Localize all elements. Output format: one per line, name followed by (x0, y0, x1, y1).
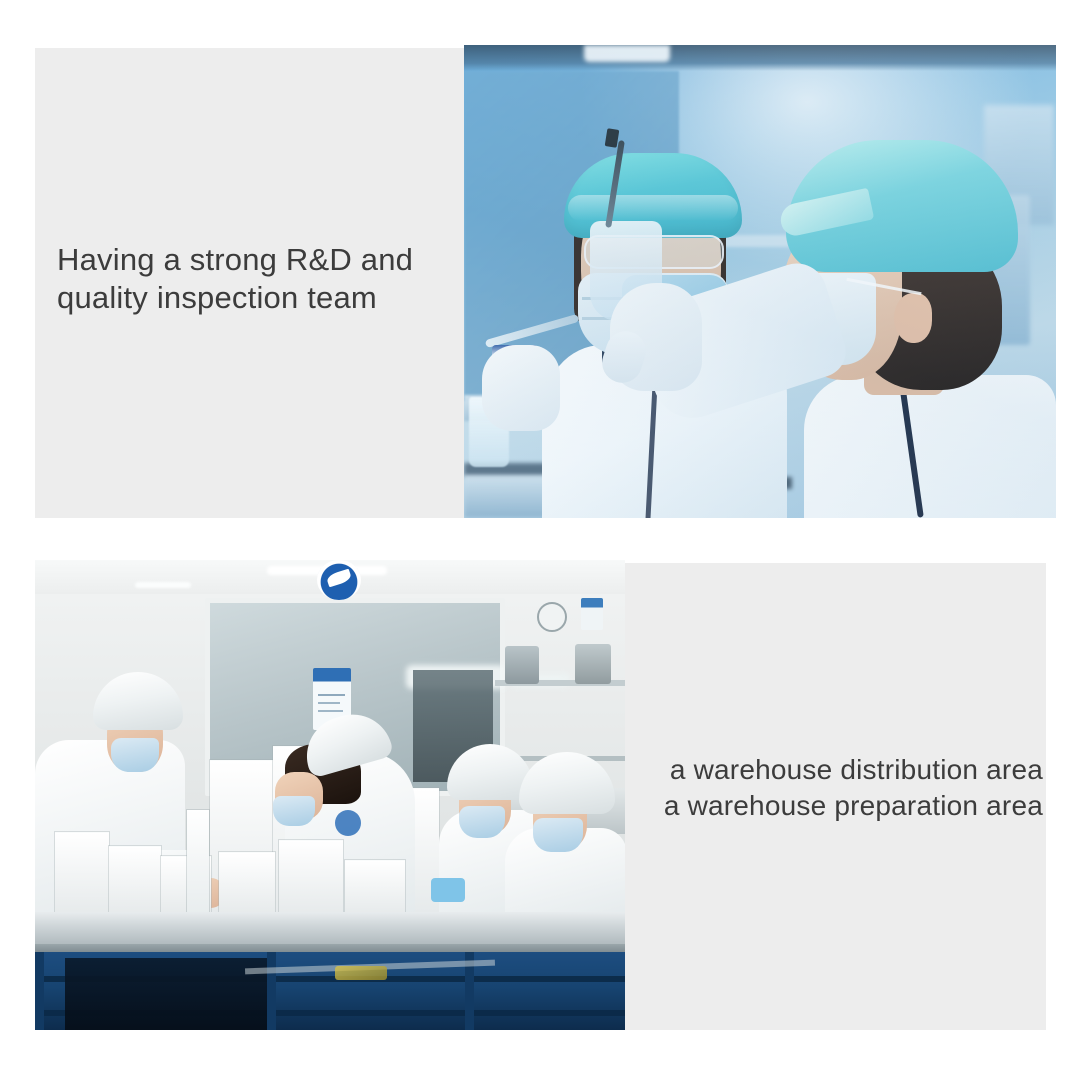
box-stack-front-6 (345, 860, 405, 915)
warehouse-ceiling-light-2 (135, 582, 191, 588)
stainless-container-2 (575, 644, 611, 684)
worker-3-face-mask (459, 806, 505, 838)
wall-notice-board-2 (581, 598, 603, 630)
rd-quality-caption: Having a strong R&D and quality inspecti… (57, 241, 447, 317)
box-stack-front-2 (109, 846, 161, 915)
warehouse-caption: a warehouse distribution area a warehous… (645, 752, 1043, 824)
warehouse-photo (35, 560, 625, 1030)
stainless-steel-table-top (35, 912, 625, 946)
wall-clock-icon (537, 602, 567, 632)
table-leg-1 (35, 952, 44, 1030)
table-leg-2 (267, 952, 276, 1030)
box-stack-front-1 (55, 832, 109, 915)
blue-packing-item (431, 878, 465, 902)
worker-2-face-mask (273, 796, 315, 826)
tall-white-bottle (187, 810, 209, 914)
worker-4-face-mask (533, 818, 583, 852)
worker-2-badge-icon (335, 810, 361, 836)
worker-1-face-mask (111, 738, 159, 772)
box-stack-front-5 (279, 840, 343, 915)
table-yellow-reflection (335, 966, 387, 980)
notice-text-line-2 (318, 702, 340, 704)
rd-quality-photo (464, 45, 1056, 518)
stainless-container-1 (505, 646, 539, 684)
notice-text-line-3 (318, 710, 343, 712)
box-stack-front-4 (219, 852, 275, 915)
table-under-shadow (65, 958, 275, 1030)
notice-text-line-1 (318, 694, 345, 696)
lab-photo-haze (464, 45, 1056, 518)
